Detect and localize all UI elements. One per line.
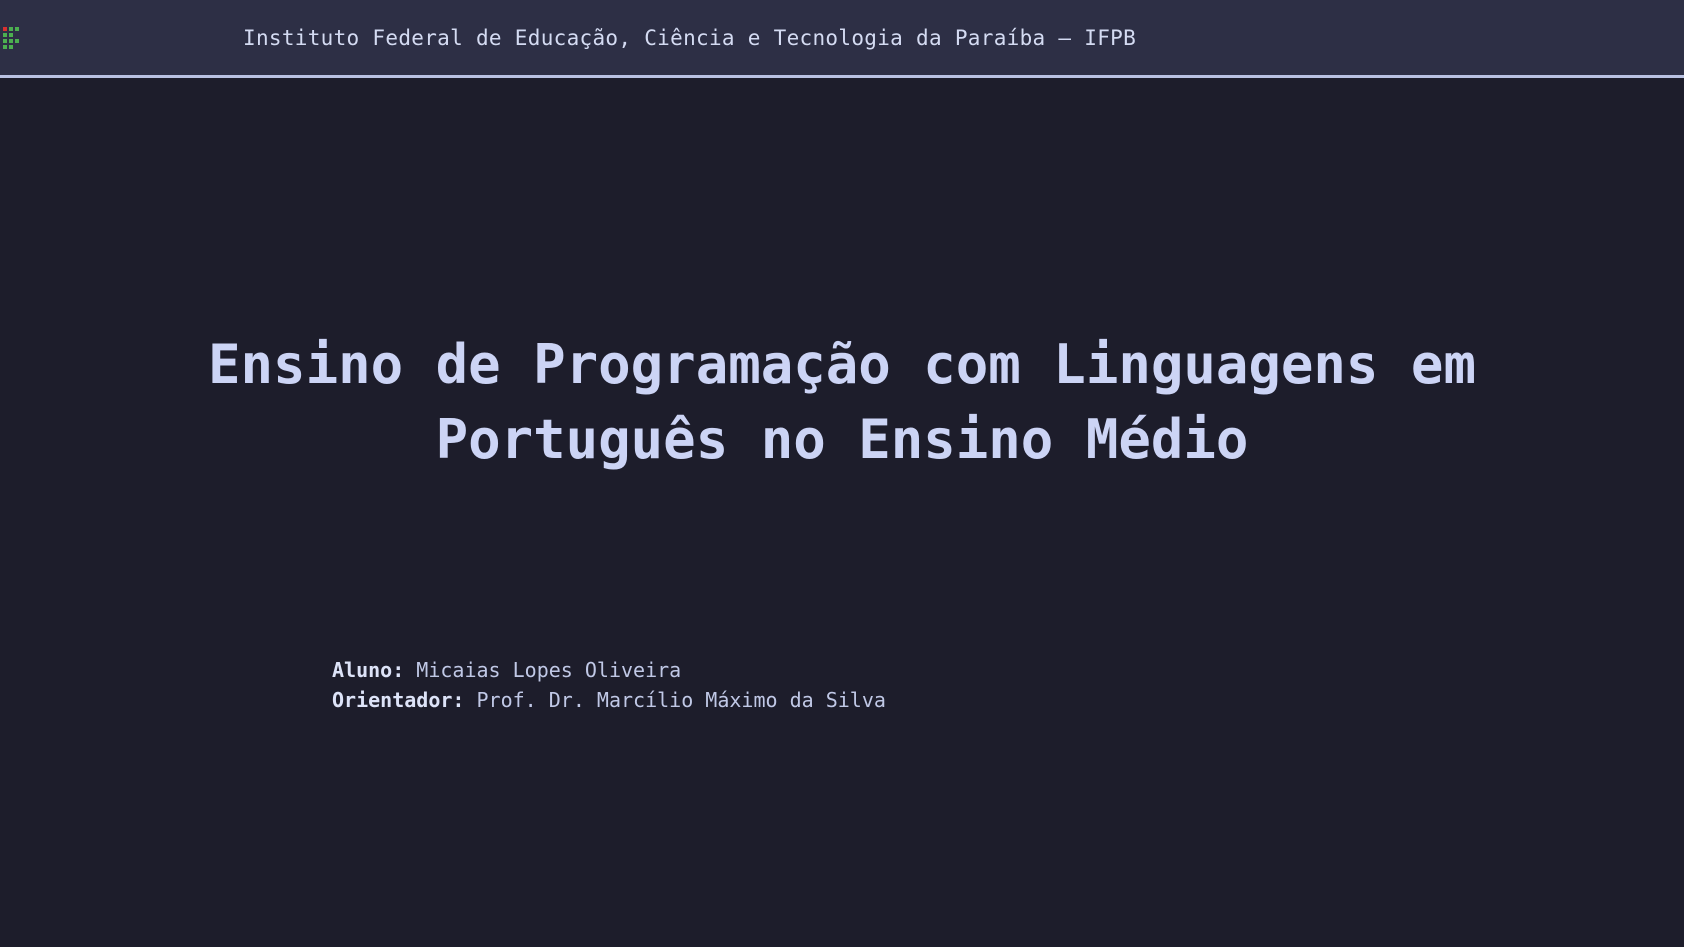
grid-dots-icon	[3, 27, 19, 51]
institution-name: Instituto Federal de Educação, Ciência e…	[243, 26, 1136, 50]
slide-header-bar: Instituto Federal de Educação, Ciência e…	[0, 0, 1684, 78]
credit-row-advisor: Orientador: Prof. Dr. Marcílio Máximo da…	[332, 686, 886, 716]
credit-row-student: Aluno: Micaias Lopes Oliveira	[332, 656, 886, 686]
student-label: Aluno:	[332, 658, 404, 682]
student-name: Micaias Lopes Oliveira	[416, 658, 681, 682]
presentation-slide: Instituto Federal de Educação, Ciência e…	[0, 0, 1684, 947]
slide-body: Ensino de Programação com Linguagens em …	[0, 78, 1684, 947]
advisor-name: Prof. Dr. Marcílio Máximo da Silva	[477, 688, 886, 712]
credits-block: Aluno: Micaias Lopes Oliveira Orientador…	[332, 656, 886, 715]
slide-title: Ensino de Programação com Linguagens em …	[0, 328, 1684, 477]
advisor-label: Orientador:	[332, 688, 464, 712]
